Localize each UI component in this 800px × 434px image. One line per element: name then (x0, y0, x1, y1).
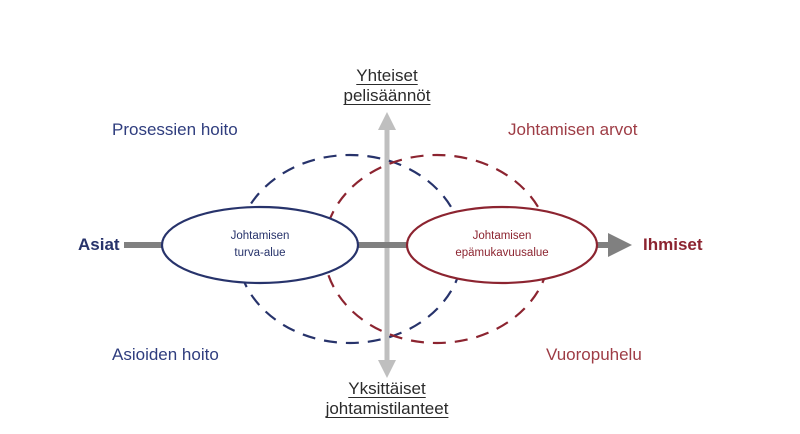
axis-label-top-line2: pelisäännöt (307, 86, 467, 106)
horizontal-axis-arrowhead-right (608, 233, 632, 257)
axis-label-right: Ihmiset (643, 235, 703, 255)
axis-label-left: Asiat (78, 235, 120, 255)
axis-label-bottom-line2: johtamistilanteet (297, 399, 477, 419)
axis-label-bottom: Yksittäiset johtamistilanteet (297, 379, 477, 420)
corner-label-bottom-left: Asioiden hoito (112, 345, 219, 365)
axis-label-bottom-line1: Yksittäiset (297, 379, 477, 399)
corner-label-top-left: Prosessien hoito (112, 120, 238, 140)
axis-label-top: Yhteiset pelisäännöt (307, 66, 467, 107)
zone-label-red-line2: epämukavuusalue (422, 245, 582, 262)
corner-label-bottom-right: Vuoropuhelu (546, 345, 642, 365)
vertical-axis-arrowhead-up (378, 112, 396, 130)
zone-label-red: Johtamisen epämukavuusalue (422, 228, 582, 261)
axis-label-top-line1: Yhteiset (307, 66, 467, 86)
zone-label-blue-line2: turva-alue (180, 245, 340, 262)
corner-label-top-right: Johtamisen arvot (508, 120, 637, 140)
zone-label-blue: Johtamisen turva-alue (180, 228, 340, 261)
zone-label-blue-line1: Johtamisen (180, 228, 340, 245)
zone-label-red-line1: Johtamisen (422, 228, 582, 245)
diagram-canvas: Yhteiset pelisäännöt Yksittäiset johtami… (0, 0, 800, 434)
vertical-axis-arrowhead-down (378, 360, 396, 378)
